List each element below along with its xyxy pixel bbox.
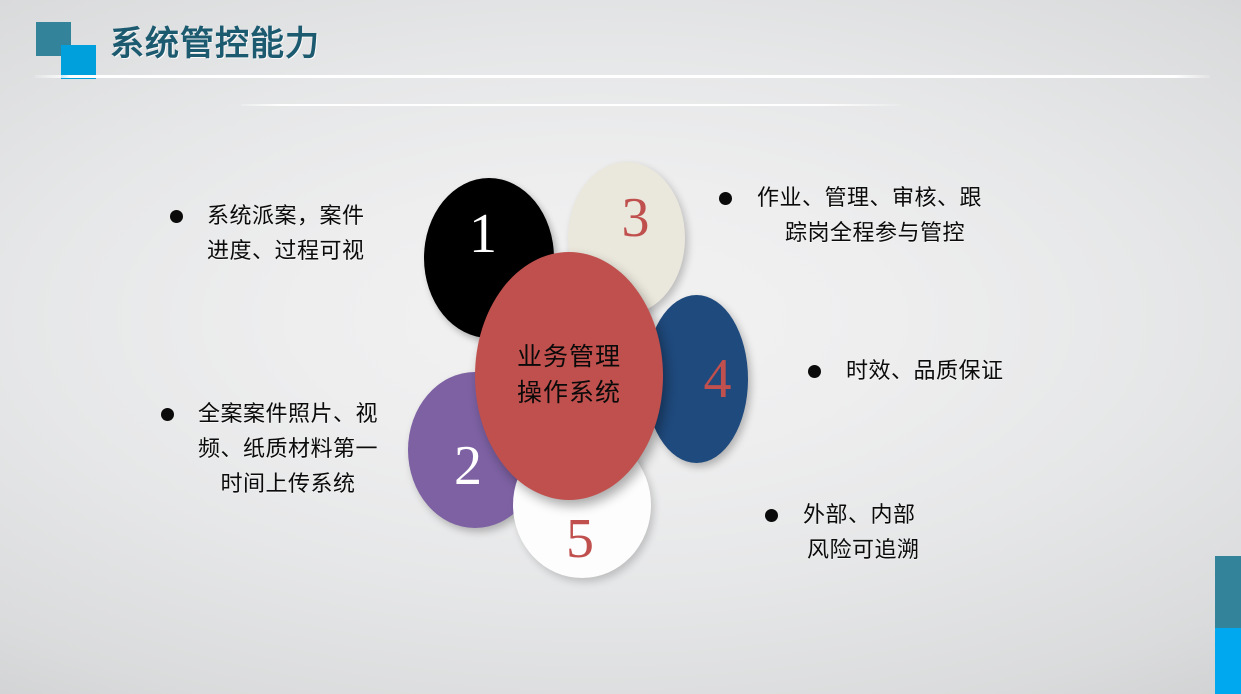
bullet-right-3-line-1: 外部、内部 (803, 497, 920, 532)
petal-diagram: 1 3 2 4 5 业务管理 操作系统 (0, 0, 1241, 694)
petal-3-number: 3 (622, 190, 650, 246)
bullet-dot-icon (170, 210, 183, 223)
bullet-left-1-text: 系统派案，案件 进度、过程可视 (207, 198, 365, 268)
bullet-right-3-text: 外部、内部 风险可追溯 (803, 497, 920, 567)
bullet-right-2-line-1: 时效、品质保证 (846, 353, 1004, 388)
bullet-left-2-line-3: 时间上传系统 (198, 466, 378, 501)
bullet-dot-icon (765, 509, 778, 522)
bullet-dot-icon (808, 365, 821, 378)
center-label-line-1: 业务管理 (517, 340, 621, 376)
petal-1-number: 1 (469, 206, 497, 262)
petal-4-number: 4 (704, 351, 732, 407)
bullet-left-2-text: 全案案件照片、视 频、纸质材料第一 时间上传系统 (198, 396, 378, 501)
bullet-right-3: 外部、内部 风险可追溯 (765, 497, 920, 567)
petal-5-number: 5 (566, 511, 594, 567)
bullet-left-1: 系统派案，案件 进度、过程可视 (170, 198, 365, 268)
slide-canvas: 系统管控能力 1 3 2 4 5 业务管理 操作系统 系统派案，案件 (0, 0, 1241, 694)
center-label-line-2: 操作系统 (517, 376, 621, 412)
bullet-left-2: 全案案件照片、视 频、纸质材料第一 时间上传系统 (161, 396, 378, 501)
bullet-right-3-line-2: 风险可追溯 (803, 532, 920, 567)
bullet-right-2: 时效、品质保证 (808, 353, 1004, 388)
bullet-dot-icon (719, 192, 732, 205)
diagram-center-node[interactable]: 业务管理 操作系统 (475, 252, 663, 500)
bullet-left-2-line-2: 频、纸质材料第一 (198, 431, 378, 466)
bullet-dot-icon (161, 408, 174, 421)
bullet-left-2-line-1: 全案案件照片、视 (198, 396, 378, 431)
bullet-left-1-line-2: 进度、过程可视 (207, 233, 365, 268)
bullet-right-1-text: 作业、管理、审核、跟 踪岗全程参与管控 (757, 180, 982, 250)
bullet-right-2-text: 时效、品质保证 (846, 353, 1004, 388)
bullet-right-1: 作业、管理、审核、跟 踪岗全程参与管控 (719, 180, 982, 250)
bullet-right-1-line-1: 作业、管理、审核、跟 (757, 180, 982, 215)
bullet-left-1-line-1: 系统派案，案件 (207, 198, 365, 233)
petal-2-number: 2 (454, 438, 482, 494)
bullet-right-1-line-2: 踪岗全程参与管控 (757, 215, 982, 250)
